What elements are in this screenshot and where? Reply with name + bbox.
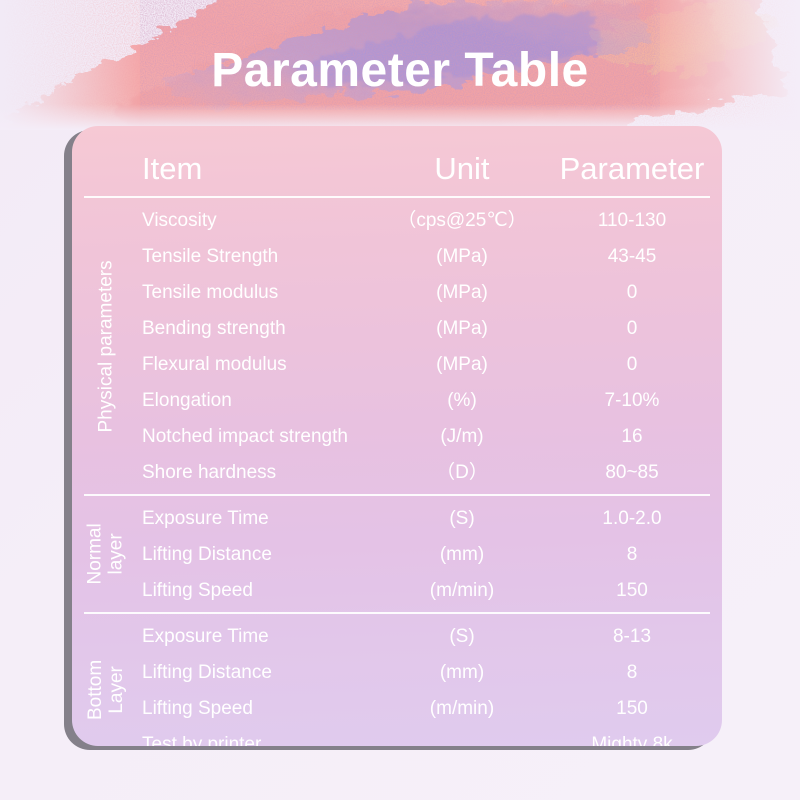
- column-header-item: Item: [142, 151, 382, 187]
- row-unit-cell: (MPa): [382, 319, 542, 338]
- page-root: Parameter Table Item Unit Parameter Phys…: [0, 0, 800, 800]
- row-item-cell: Tensile Strength: [142, 247, 382, 266]
- column-header-parameter: Parameter: [542, 151, 722, 187]
- row-item-cell: Exposure Time: [142, 627, 382, 646]
- table-row: Exposure Time(S)8-13: [72, 618, 722, 654]
- table-row: Viscosity（cps@25℃）110-130: [72, 202, 722, 238]
- row-parameter-cell: 8: [542, 663, 722, 682]
- row-parameter-cell: 8-13: [542, 627, 722, 646]
- row-unit-cell: (S): [382, 509, 542, 528]
- table-section: Normal layerExposure Time(S)1.0-2.0Lifti…: [72, 500, 722, 608]
- row-item-cell: Test by printer: [142, 735, 382, 747]
- header-divider: [84, 196, 710, 198]
- page-title: Parameter Table: [0, 47, 800, 95]
- row-parameter-cell: 150: [542, 581, 722, 600]
- row-unit-cell: (MPa): [382, 283, 542, 302]
- row-unit-cell: (mm): [382, 545, 542, 564]
- table-sections: Physical parametersViscosity（cps@25℃）110…: [72, 202, 722, 746]
- row-parameter-cell: 150: [542, 699, 722, 718]
- column-header-unit: Unit: [382, 151, 542, 187]
- table-row: Tensile modulus(MPa)0: [72, 274, 722, 310]
- table-row: Flexural modulus(MPa)0: [72, 346, 722, 382]
- table-row: Shore hardness（D）80~85: [72, 454, 722, 490]
- table-row: Elongation(%)7-10%: [72, 382, 722, 418]
- table-row: Lifting Speed(m/min)150: [72, 572, 722, 608]
- table-section: Physical parametersViscosity（cps@25℃）110…: [72, 202, 722, 490]
- section-divider: [84, 612, 710, 614]
- row-parameter-cell: 8: [542, 545, 722, 564]
- row-unit-cell: (mm): [382, 663, 542, 682]
- table-row: Notched impact strength(J/m)16: [72, 418, 722, 454]
- table-section: Bottom LayerExposure Time(S)8-13Lifting …: [72, 618, 722, 746]
- row-item-cell: Viscosity: [142, 211, 382, 230]
- row-item-cell: Lifting Distance: [142, 545, 382, 564]
- row-item-cell: Shore hardness: [142, 463, 382, 482]
- row-item-cell: Lifting Speed: [142, 581, 382, 600]
- row-unit-cell: (m/min): [382, 581, 542, 600]
- table-header-row: Item Unit Parameter: [72, 146, 722, 192]
- row-parameter-cell: Mighty 8k: [542, 735, 722, 747]
- row-parameter-cell: 7-10%: [542, 391, 722, 410]
- row-parameter-cell: 43-45: [542, 247, 722, 266]
- row-item-cell: Notched impact strength: [142, 427, 382, 446]
- row-parameter-cell: 0: [542, 283, 722, 302]
- row-parameter-cell: 0: [542, 319, 722, 338]
- row-item-cell: Lifting Distance: [142, 663, 382, 682]
- row-item-cell: Elongation: [142, 391, 382, 410]
- row-parameter-cell: 16: [542, 427, 722, 446]
- row-unit-cell: (MPa): [382, 247, 542, 266]
- row-parameter-cell: 80~85: [542, 463, 722, 482]
- row-item-cell: Exposure Time: [142, 509, 382, 528]
- table-row: Bending strength(MPa)0: [72, 310, 722, 346]
- table-row: Exposure Time(S)1.0-2.0: [72, 500, 722, 536]
- table-row: Tensile Strength(MPa)43-45: [72, 238, 722, 274]
- table-row: Test by printerMighty 8k: [72, 726, 722, 746]
- section-divider: [84, 494, 710, 496]
- row-parameter-cell: 1.0-2.0: [542, 509, 722, 528]
- row-parameter-cell: 0: [542, 355, 722, 374]
- table-row: Lifting Distance(mm)8: [72, 536, 722, 572]
- row-unit-cell: (J/m): [382, 427, 542, 446]
- row-item-cell: Bending strength: [142, 319, 382, 338]
- row-unit-cell: (%): [382, 391, 542, 410]
- row-item-cell: Lifting Speed: [142, 699, 382, 718]
- row-item-cell: Tensile modulus: [142, 283, 382, 302]
- table-row: Lifting Speed(m/min)150: [72, 690, 722, 726]
- row-unit-cell: (m/min): [382, 699, 542, 718]
- row-unit-cell: （D）: [382, 463, 542, 482]
- row-unit-cell: (MPa): [382, 355, 542, 374]
- row-item-cell: Flexural modulus: [142, 355, 382, 374]
- row-parameter-cell: 110-130: [542, 211, 722, 230]
- parameter-table-card: Item Unit Parameter Physical parametersV…: [72, 126, 722, 746]
- row-unit-cell: （cps@25℃）: [382, 211, 542, 230]
- table-row: Lifting Distance(mm)8: [72, 654, 722, 690]
- row-unit-cell: (S): [382, 627, 542, 646]
